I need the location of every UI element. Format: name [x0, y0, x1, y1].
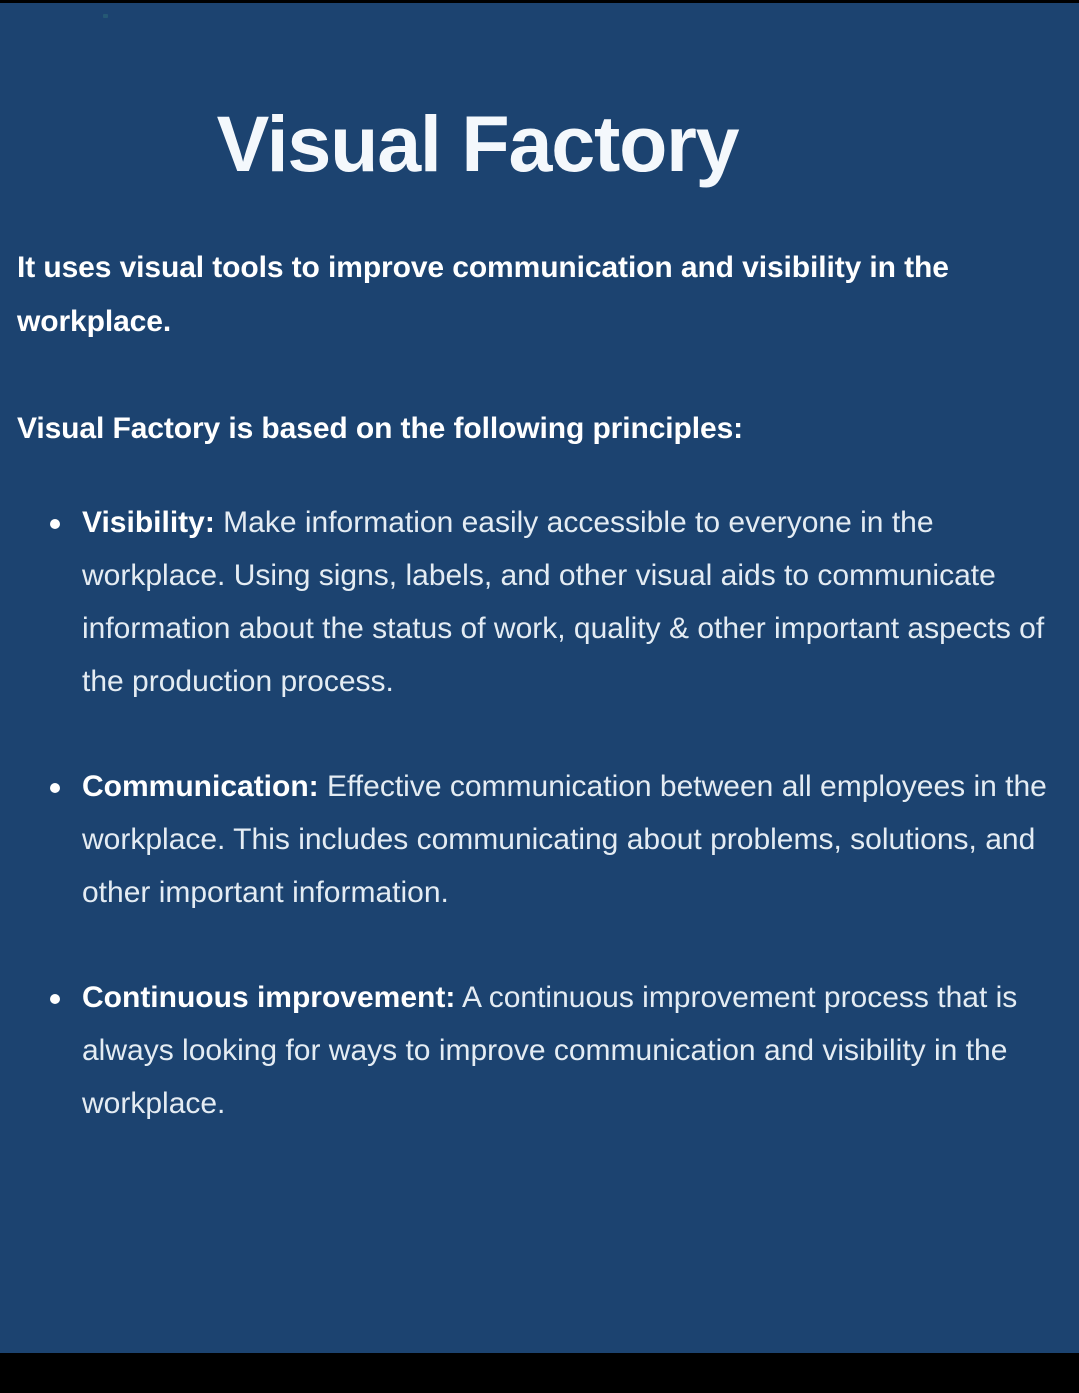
bullet-term-label: Continuous improvement:	[82, 981, 455, 1014]
page-title: Visual Factory	[0, 104, 955, 183]
slide-body: It uses visual tools to improve communic…	[0, 241, 1079, 1130]
principles-list: Visibility: Make information easily acce…	[0, 496, 1079, 1130]
lead-paragraph: It uses visual tools to improve communic…	[17, 241, 1047, 349]
bullet-dot-icon	[50, 994, 60, 1004]
slide-canvas: Visual Factory It uses visual tools to i…	[0, 3, 1079, 1353]
bullet-term-label: Communication:	[82, 770, 319, 803]
list-item: Communication: Effective communication b…	[0, 760, 1079, 919]
bullet-dot-icon	[50, 519, 60, 529]
principles-intro-text: Visual Factory is based on the following…	[17, 402, 1052, 456]
bullet-dot-icon	[50, 783, 60, 793]
bottom-letterbox-bar	[0, 1353, 1079, 1393]
corner-artifact-dot	[103, 14, 108, 18]
list-item: Continuous improvement: A continuous imp…	[0, 971, 1079, 1130]
bullet-term-label: Visibility:	[82, 506, 215, 539]
list-item: Visibility: Make information easily acce…	[0, 496, 1079, 708]
bullet-body-text: Make information easily accessible to ev…	[82, 506, 1044, 698]
